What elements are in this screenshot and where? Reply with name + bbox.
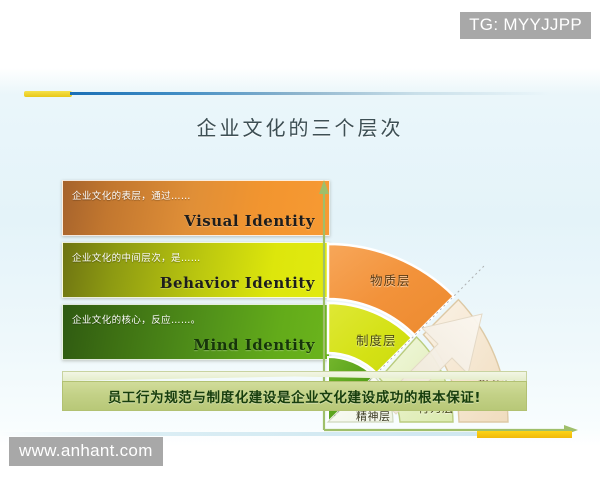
level-label-behavior-identity: Behavior Identity <box>160 274 315 292</box>
top-accent-yellow-segment <box>24 91 72 97</box>
level-label-mind-identity: Mind Identity <box>193 336 315 354</box>
top-accent-line <box>0 91 600 97</box>
arc-label-wuzhi-ceng: 物质层 <box>370 270 411 289</box>
arc-label-zhidu-ceng: 制度层 <box>356 330 397 349</box>
conclusion-banner: 员工行为规范与制度化建设是企业文化建设成功的根本保证! <box>62 381 527 411</box>
conclusion-banner-group: 员工行为规范与制度化建设是企业文化建设成功的根本保证! <box>62 371 527 413</box>
bottom-accent-grey-segment <box>0 432 480 436</box>
level-label-visual-identity: Visual Identity <box>184 212 315 230</box>
level-bar-visual-identity: 企业文化的表层，通过…… Visual Identity <box>62 180 330 236</box>
page-title: 企业文化的三个层次 <box>0 112 600 141</box>
watermark-top-right: TG: MYYJJPP <box>460 12 591 39</box>
level-note-mind-identity: 企业文化的核心，反应……。 <box>72 312 201 326</box>
level-bar-mind-identity: 企业文化的核心，反应……。 Mind Identity <box>62 304 330 360</box>
identity-bars-group: 企业文化的表层，通过…… Visual Identity 企业文化的中间层次，是… <box>62 180 330 366</box>
level-note-behavior-identity: 企业文化的中间层次，是…… <box>72 250 201 264</box>
bottom-accent-yellow-segment <box>477 431 572 438</box>
level-bar-behavior-identity: 企业文化的中间层次，是…… Behavior Identity <box>62 242 330 298</box>
level-note-visual-identity: 企业文化的表层，通过…… <box>72 188 191 202</box>
banner-top-tab <box>62 371 527 381</box>
watermark-bottom-left: www.anhant.com <box>9 437 163 466</box>
top-accent-blue-segment <box>70 92 550 95</box>
conclusion-banner-text: 员工行为规范与制度化建设是企业文化建设成功的根本保证! <box>108 386 481 406</box>
slide-canvas: 企业文化的三个层次 企业文化的表层，通过…… Visual Identity 企… <box>0 68 600 446</box>
